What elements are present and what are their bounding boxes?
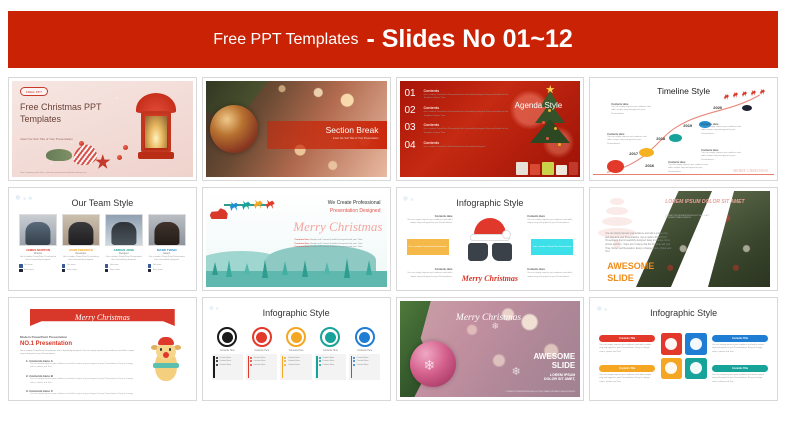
card-item: Content Here	[357, 360, 369, 362]
agenda-number: 01	[405, 89, 420, 101]
slide-06-headline-1: We Create Professional	[328, 200, 381, 206]
infographic-column: Contents Here Content Here Content Here …	[246, 327, 277, 380]
slide-09-canvas: Merry Christmas Modern PowerPoint Presen…	[12, 301, 193, 397]
card-item: Content Here	[254, 360, 266, 362]
slide-05-canvas: ❄ ❄ ❄ Our Team Style JAMES NORTON Direct…	[12, 191, 193, 287]
facebook-icon[interactable]	[19, 264, 23, 268]
note-body: You can simply impress your audience and…	[407, 219, 453, 226]
line-label: Contents Here	[295, 239, 310, 241]
link-label[interactable]: Get more	[153, 264, 162, 267]
link-label[interactable]: Get more	[110, 264, 119, 267]
agenda-body: Get a modern PowerPoint Presentation tha…	[424, 111, 513, 118]
agenda-row: 02 Contents Get a modern PowerPoint Pres…	[405, 106, 513, 118]
team-member-role: Developer	[62, 252, 100, 255]
timeline-note-body: You can simply impress your audience and…	[701, 126, 741, 136]
reindeer-character-icon	[149, 337, 183, 389]
slide-11-lorem: LOREM IPSUM DOLOR SIT AMET,	[544, 373, 575, 382]
avatar	[62, 214, 100, 246]
timeline-note-body: You can simply impress your audience and…	[611, 106, 651, 116]
slide-09-items: 1. Contents Here A You can simply impres…	[26, 359, 138, 397]
facebook-icon[interactable]	[148, 264, 152, 268]
christmas-tree-icon	[524, 85, 576, 157]
link-label[interactable]: Even more	[24, 269, 34, 272]
gift-boxes-icon	[516, 157, 578, 175]
agenda-heading: Contents	[424, 123, 513, 127]
santa-sleigh-icon	[724, 87, 770, 105]
infographic-column: Contents Here Content Here Content Here …	[349, 327, 380, 380]
slide-thumbnail-grid: FREE PPT Free Christmas PPT Templates In…	[8, 77, 778, 401]
list-item: 3. Contents Here C You can simply impres…	[26, 389, 138, 397]
content-card: Contents Title You can simply impress yo…	[712, 365, 768, 384]
team-member-body: Get a modern PowerPoint Presentation tha…	[62, 256, 100, 262]
slide-08-cta-2: SLIDE	[607, 273, 634, 283]
square-icon-2[interactable]	[685, 333, 707, 355]
team-member-links: Get more Even more	[62, 264, 100, 272]
note-heading: Contents Here	[407, 268, 453, 271]
ribbon-banner: Merry Christmas	[30, 309, 175, 326]
timeline-note: Contents Here You can simply impress you…	[611, 103, 651, 116]
reindeer-icon	[230, 201, 239, 211]
slide-06-headline-2: Presentation Designed	[330, 208, 381, 214]
line-text: Simple and Custom Portfolio Designed wit…	[310, 246, 363, 248]
santa-icon	[210, 207, 228, 219]
slide-08-canvas: LOREM IPSUM DOLOR SIT AMET CONSECTETUER …	[593, 191, 774, 287]
team-member-role: Director	[19, 252, 57, 255]
column-card: Content Here Content Here Content Here	[246, 354, 277, 380]
santa-boots-icon	[464, 241, 516, 261]
slide-11-cta-2: SLIDE	[533, 362, 575, 371]
slide-thumbnail-06[interactable]: We Create Professional Presentation Desi…	[202, 187, 391, 291]
mail-icon[interactable]	[19, 269, 23, 273]
note-body: You can simply impress your audience and…	[527, 219, 573, 226]
banner-subtitle: - Slides No 01~12	[366, 25, 572, 54]
slide-thumbnail-11[interactable]: ❄ ❄ ❄ Merry Christmas AWESOME SLIDE LORE…	[396, 297, 585, 401]
slide-thumbnail-08[interactable]: LOREM IPSUM DOLOR SIT AMET CONSECTETUER …	[589, 187, 778, 291]
link-label[interactable]: Get more	[67, 264, 76, 267]
card-item: Content Here	[219, 357, 231, 359]
infographic-column: Contents Here Content Here Content Here …	[212, 327, 243, 380]
team-member-role: Designer	[105, 252, 143, 255]
brand-logo: FREE PPT	[20, 87, 48, 96]
note-block: Contents Here You can simply impress you…	[527, 215, 573, 226]
note-heading: Contents Here	[407, 215, 453, 218]
callout-box: Get a modern PowerPoint Presentation	[407, 239, 449, 255]
team-member-body: Get a modern PowerPoint Presentation tha…	[148, 256, 186, 262]
mail-icon[interactable]	[62, 269, 66, 273]
list-item: 2. Contents Here B You can simply impres…	[26, 374, 138, 385]
square-icon-3[interactable]	[661, 358, 683, 380]
slide-09-kicker: Modern PowerPoint Presentation	[20, 335, 67, 339]
card-item: Content Here	[322, 357, 334, 359]
infographic-column: Contents Here Content Here Content Here …	[280, 327, 311, 380]
header-banner: Free PPT Templates - Slides No 01~12	[8, 11, 778, 68]
slide-11-cta: AWESOME SLIDE	[533, 353, 575, 371]
slide-01-footer: Your Company name here • www.free-powerp…	[20, 172, 87, 174]
team-member-card: JOHN FREEMAN Developer Get a modern Powe…	[62, 214, 100, 272]
slide-01-subtitle: Insert the Sub Title of Your Presentatio…	[20, 137, 120, 141]
templates-preview-page: Free PPT Templates - Slides No 01~12	[0, 11, 786, 445]
agenda-heading: Contents	[424, 89, 513, 93]
facebook-icon[interactable]	[105, 264, 109, 268]
slide-10-title: Infographic Style	[206, 308, 387, 318]
link-label[interactable]: Even more	[110, 269, 120, 272]
agenda-row: 01 Contents Get a modern PowerPoint Pres…	[405, 89, 513, 101]
lorem-line-2: DOLOR SIT AMET,	[544, 377, 575, 381]
card-item: Content Here	[288, 360, 300, 362]
team-member-links: Get more Even more	[19, 264, 57, 272]
slide-03-canvas: 01 Contents Get a modern PowerPoint Pres…	[400, 81, 581, 177]
square-icon-1[interactable]	[661, 333, 683, 355]
reindeer-icon	[266, 199, 275, 209]
callout-box: Get a modern PowerPoint Presentation	[531, 239, 573, 255]
pine-branch-icon	[46, 149, 72, 161]
slide-thumbnail-02[interactable]: Section Break Insert the Sub Title of Yo…	[202, 77, 391, 181]
timeline-year: 2016	[645, 163, 654, 168]
card-body: You can simply impress your audience and…	[599, 344, 655, 354]
slide-04-canvas: Timeline Style 2020 2019 2018 2017 2016 …	[593, 81, 774, 177]
avatar	[105, 214, 143, 246]
slide-09-headline: NO.1 Presentation	[20, 341, 72, 347]
slide-05-title: Our Team Style	[12, 198, 193, 208]
infographic-columns: Contents Here Content Here Content Here …	[212, 327, 381, 380]
team-member-card: JAMES NORTON Director Get a modern Power…	[19, 214, 57, 272]
slide-08-subhead: CONSECTETUER ADIPISCING ELIT SED DIAM NO…	[665, 215, 715, 219]
card-item: Content Here	[254, 364, 266, 366]
agenda-rows: 01 Contents Get a modern PowerPoint Pres…	[405, 89, 513, 156]
team-members-list: JAMES NORTON Director Get a modern Power…	[19, 214, 186, 272]
slide-11-footer: CONSECTETUER ADIPISCING ELIT SED DIAM NO…	[505, 391, 575, 394]
agenda-body: Get a modern PowerPoint Presentation tha…	[424, 146, 513, 149]
card-pill: Contents Title	[712, 335, 768, 342]
card-item: Content Here	[219, 360, 231, 362]
reindeer-icon	[242, 200, 251, 210]
team-member-body: Get a modern PowerPoint Presentation tha…	[105, 256, 143, 262]
agenda-body: Get a modern PowerPoint Presentation tha…	[424, 94, 513, 101]
note-heading: Contents Here	[527, 215, 573, 218]
agenda-number: 04	[405, 141, 420, 151]
facebook-icon[interactable]	[62, 264, 66, 268]
slide-07-canvas: ❄ ❄ Infographic Style Contents Here You …	[400, 191, 581, 287]
reindeer-icon	[254, 199, 263, 209]
card-body: You can simply impress your audience and…	[712, 344, 768, 354]
slide-11-script-title: Merry Christmas	[452, 313, 526, 324]
step-icon	[320, 327, 340, 347]
item-body: You can simply impress your audience and…	[30, 378, 138, 385]
agenda-row: 03 Contents Get a modern PowerPoint Pres…	[405, 123, 513, 135]
note-block: Contents Here You can simply impress you…	[407, 215, 453, 226]
item-body: You can simply impress your audience and…	[30, 393, 138, 397]
card-pill: Contents Title	[599, 365, 655, 372]
agenda-heading: Contents	[424, 141, 513, 145]
link-label[interactable]: Even more	[67, 269, 77, 272]
column-card: Content Here Content Here Content Here	[280, 354, 311, 380]
card-body: You can simply impress your audience and…	[599, 374, 655, 384]
column-label: Contents Here	[280, 350, 311, 352]
slide-thumbnail-10[interactable]: ❄ ❄ Infographic Style Contents Here Cont…	[202, 297, 391, 401]
step-icon	[252, 327, 272, 347]
card-pill: Contents Title	[712, 365, 768, 372]
line-text: Simple and Custom Portfolio Designed wit…	[310, 243, 363, 245]
slide-04-watermark: MERRY CHRISTMAS	[733, 168, 768, 173]
slide-thumbnail-04[interactable]: Timeline Style 2020 2019 2018 2017 2016 …	[589, 77, 778, 181]
mail-icon[interactable]	[105, 269, 109, 273]
content-card: Contents Title You can simply impress yo…	[712, 335, 768, 354]
column-card: Content Here Content Here Content Here	[212, 354, 243, 380]
column-label: Contents Here	[212, 350, 243, 352]
column-card: Content Here Content Here Content Here	[315, 354, 346, 380]
column-card: Content Here Content Here Content Here	[349, 354, 380, 380]
slide-09-intro: Get a modern PowerPoint Presentation tha…	[20, 350, 138, 357]
slide-thumbnail-03[interactable]: 01 Contents Get a modern PowerPoint Pres…	[396, 77, 585, 181]
team-member-links: Get more Even more	[105, 264, 143, 272]
column-label: Contents Here	[246, 350, 277, 352]
team-member-card: MARK TWAIN Expert Get a modern PowerPoin…	[148, 214, 186, 272]
slide-thumbnail-05[interactable]: ❄ ❄ ❄ Our Team Style JAMES NORTON Direct…	[8, 187, 197, 291]
slide-02-subtitle: Insert the Sub Title of Your Presentatio…	[333, 137, 379, 140]
lantern-icon	[133, 93, 179, 167]
slide-01-canvas: FREE PPT Free Christmas PPT Templates In…	[12, 81, 193, 177]
avatar	[148, 214, 186, 246]
slide-thumbnail-01[interactable]: FREE PPT Free Christmas PPT Templates In…	[8, 77, 197, 181]
slide-06-canvas: We Create Professional Presentation Desi…	[206, 191, 387, 287]
slide-02-title: Section Break	[326, 125, 379, 135]
step-icon	[286, 327, 306, 347]
banner-main-title: Free PPT Templates	[213, 31, 358, 49]
timeline-year: 2020	[713, 105, 722, 110]
line-label: Contents Here	[295, 246, 310, 248]
link-label[interactable]: Even more	[153, 269, 163, 272]
column-label: Contents Here	[349, 350, 380, 352]
agenda-number: 02	[405, 106, 420, 118]
step-icon	[355, 327, 375, 347]
card-item: Content Here	[288, 357, 300, 359]
column-label: Contents Here	[315, 350, 346, 352]
card-item: Content Here	[357, 364, 369, 366]
slide-06-lines: Contents Here Simple and Custom Portfoli…	[295, 239, 381, 250]
slide-thumbnail-12[interactable]: ❄ ❄ Infographic Style Contents Title You…	[589, 297, 778, 401]
card-item: Content Here	[322, 360, 334, 362]
note-heading: Contents Here	[527, 268, 573, 271]
timeline-baseline	[593, 174, 774, 175]
team-member-role: Expert	[148, 252, 186, 255]
link-label[interactable]: Get more	[24, 264, 33, 267]
content-card: Contents Title You can simply impress yo…	[599, 365, 655, 384]
berries-decoration-icon	[73, 137, 133, 171]
mail-icon[interactable]	[148, 269, 152, 273]
slide-12-title: Infographic Style	[593, 308, 774, 318]
card-item: Content Here	[322, 364, 334, 366]
slide-thumbnail-09[interactable]: Merry Christmas Modern PowerPoint Presen…	[8, 297, 197, 401]
avatar	[19, 214, 57, 246]
timeline-note: Contents Here You can simply impress you…	[668, 161, 708, 174]
timeline-note: Contents Here You can simply impress you…	[607, 133, 647, 146]
timeline-note-body: You can simply impress your audience and…	[668, 164, 708, 174]
slide-07-title: Infographic Style	[400, 198, 581, 208]
line-label: Contents Here	[295, 243, 310, 245]
slide-09-ribbon-text: Merry Christmas	[75, 313, 130, 322]
team-member-body: Get a modern PowerPoint Presentation tha…	[19, 256, 57, 262]
slide-03-title: Agenda Style	[515, 101, 563, 111]
card-item: Content Here	[254, 357, 266, 359]
slide-01-title: Free Christmas PPT Templates	[20, 101, 116, 125]
timeline-year: 2018	[656, 136, 665, 141]
agenda-heading: Contents	[424, 106, 513, 110]
card-item: Content Here	[288, 364, 300, 366]
slide-08-headline: LOREM IPSUM DOLOR SIT AMET	[665, 199, 744, 206]
card-item: Content Here	[357, 357, 369, 359]
team-member-links: Get more Even more	[148, 264, 186, 272]
agenda-body: Get a modern PowerPoint Presentation tha…	[424, 128, 513, 135]
agenda-row: 04 Contents Get a modern PowerPoint Pres…	[405, 141, 513, 151]
icon-square-grid	[661, 333, 707, 379]
item-body: You can simply impress your audience and…	[30, 363, 138, 370]
slide-10-canvas: ❄ ❄ Infographic Style Contents Here Cont…	[206, 301, 387, 397]
slide-11-canvas: ❄ ❄ ❄ Merry Christmas AWESOME SLIDE LORE…	[400, 301, 581, 397]
slide-thumbnail-07[interactable]: ❄ ❄ Infographic Style Contents Here You …	[396, 187, 585, 291]
timeline-note: Contents Here You can simply impress you…	[701, 123, 741, 136]
timeline-year: 2017	[629, 151, 638, 156]
list-item: 1. Contents Here A You can simply impres…	[26, 359, 138, 370]
slide-06-script-title: Merry Christmas	[293, 219, 382, 235]
square-icon-4[interactable]	[685, 358, 707, 380]
content-card: Contents Title You can simply impress yo…	[599, 335, 655, 354]
ornament-ball-icon	[210, 105, 258, 153]
infographic-column: Contents Here Content Here Content Here …	[315, 327, 346, 380]
team-member-card: ADRIAN JOSE Designer Get a modern PowerP…	[105, 214, 143, 272]
slide-08-cta-1: AWESOME	[607, 261, 654, 271]
line-text: Simple and Custom Portfolio Designed wit…	[310, 239, 363, 241]
snowflake-icon: ❄	[512, 365, 521, 378]
snowflake-icon: ❄	[424, 357, 436, 374]
timeline-note-body: You can simply impress your audience and…	[607, 136, 647, 146]
step-icon	[217, 327, 237, 347]
agenda-number: 03	[405, 123, 420, 135]
timeline-year: 2019	[683, 123, 692, 128]
slide-12-canvas: ❄ ❄ Infographic Style Contents Title You…	[593, 301, 774, 397]
card-body: You can simply impress your audience and…	[712, 374, 768, 384]
slide-07-script-title: Merry Christmas	[400, 274, 581, 283]
slide-02-canvas: Section Break Insert the Sub Title of Yo…	[206, 81, 387, 177]
card-item: Content Here	[219, 364, 231, 366]
card-pill: Contents Title	[599, 335, 655, 342]
slide-08-body: You can simply impress your audience and…	[605, 233, 671, 255]
